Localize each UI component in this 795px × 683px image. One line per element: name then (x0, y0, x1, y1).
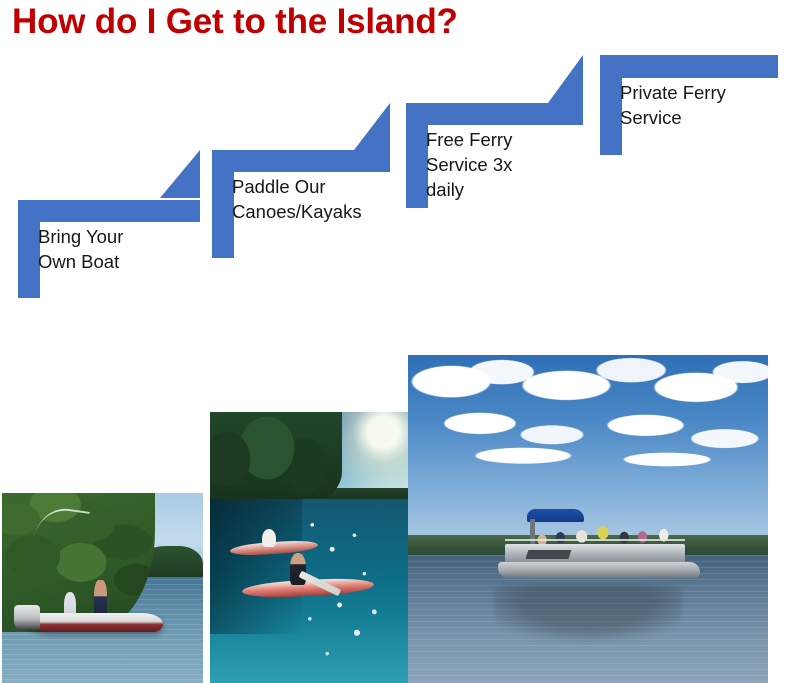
photo-3-deck-rail (505, 539, 685, 541)
photo-2-shaded-water (210, 499, 302, 635)
photo-3-clouds (408, 355, 768, 545)
step-4-left-bar (600, 55, 622, 155)
photo-1-bass-boat (28, 613, 163, 632)
step-private-ferry-service[interactable]: Private Ferry Service (600, 55, 780, 157)
photo-pontoon-boat (408, 355, 768, 683)
steps-diagram: Bring Your Own Boat Paddle Our Canoes/Ka… (0, 0, 795, 330)
photo-1-outboard-motor (14, 605, 40, 630)
step-3-left-bar (406, 103, 428, 208)
photo-3-deck-stripe (525, 550, 571, 559)
step-3-top-bar (406, 103, 583, 125)
step-bring-your-own-boat[interactable]: Bring Your Own Boat (18, 200, 218, 300)
step-paddle-our-canoes[interactable]: Paddle Our Canoes/Kayaks (212, 150, 392, 260)
step-2-arrow-icon (160, 150, 200, 198)
step-2-top-bar (212, 150, 390, 172)
photo-3-pontoon-hull (498, 562, 700, 578)
step-3-label: Free Ferry Service 3x daily (426, 127, 586, 202)
step-2-label: Paddle Our Canoes/Kayaks (232, 174, 408, 224)
photo-bass-boat (2, 493, 203, 683)
photo-2-front-paddler (290, 553, 306, 586)
photo-collage (0, 340, 795, 683)
step-1-top-bar (18, 200, 200, 222)
step-1-label: Bring Your Own Boat (38, 224, 214, 274)
step-4-top-bar (600, 55, 778, 78)
photo-3-boat-reflection (494, 585, 681, 670)
step-2-left-bar (212, 150, 234, 258)
step-3-arrow-icon (354, 103, 390, 150)
step-free-ferry-service[interactable]: Free Ferry Service 3x daily (406, 103, 586, 209)
step-1-left-bar (18, 200, 40, 298)
step-4-arrow-icon (548, 55, 583, 103)
step-4-label: Private Ferry Service (620, 80, 790, 130)
photo-kayaks (210, 412, 410, 683)
photo-2-rear-paddler (262, 529, 276, 548)
